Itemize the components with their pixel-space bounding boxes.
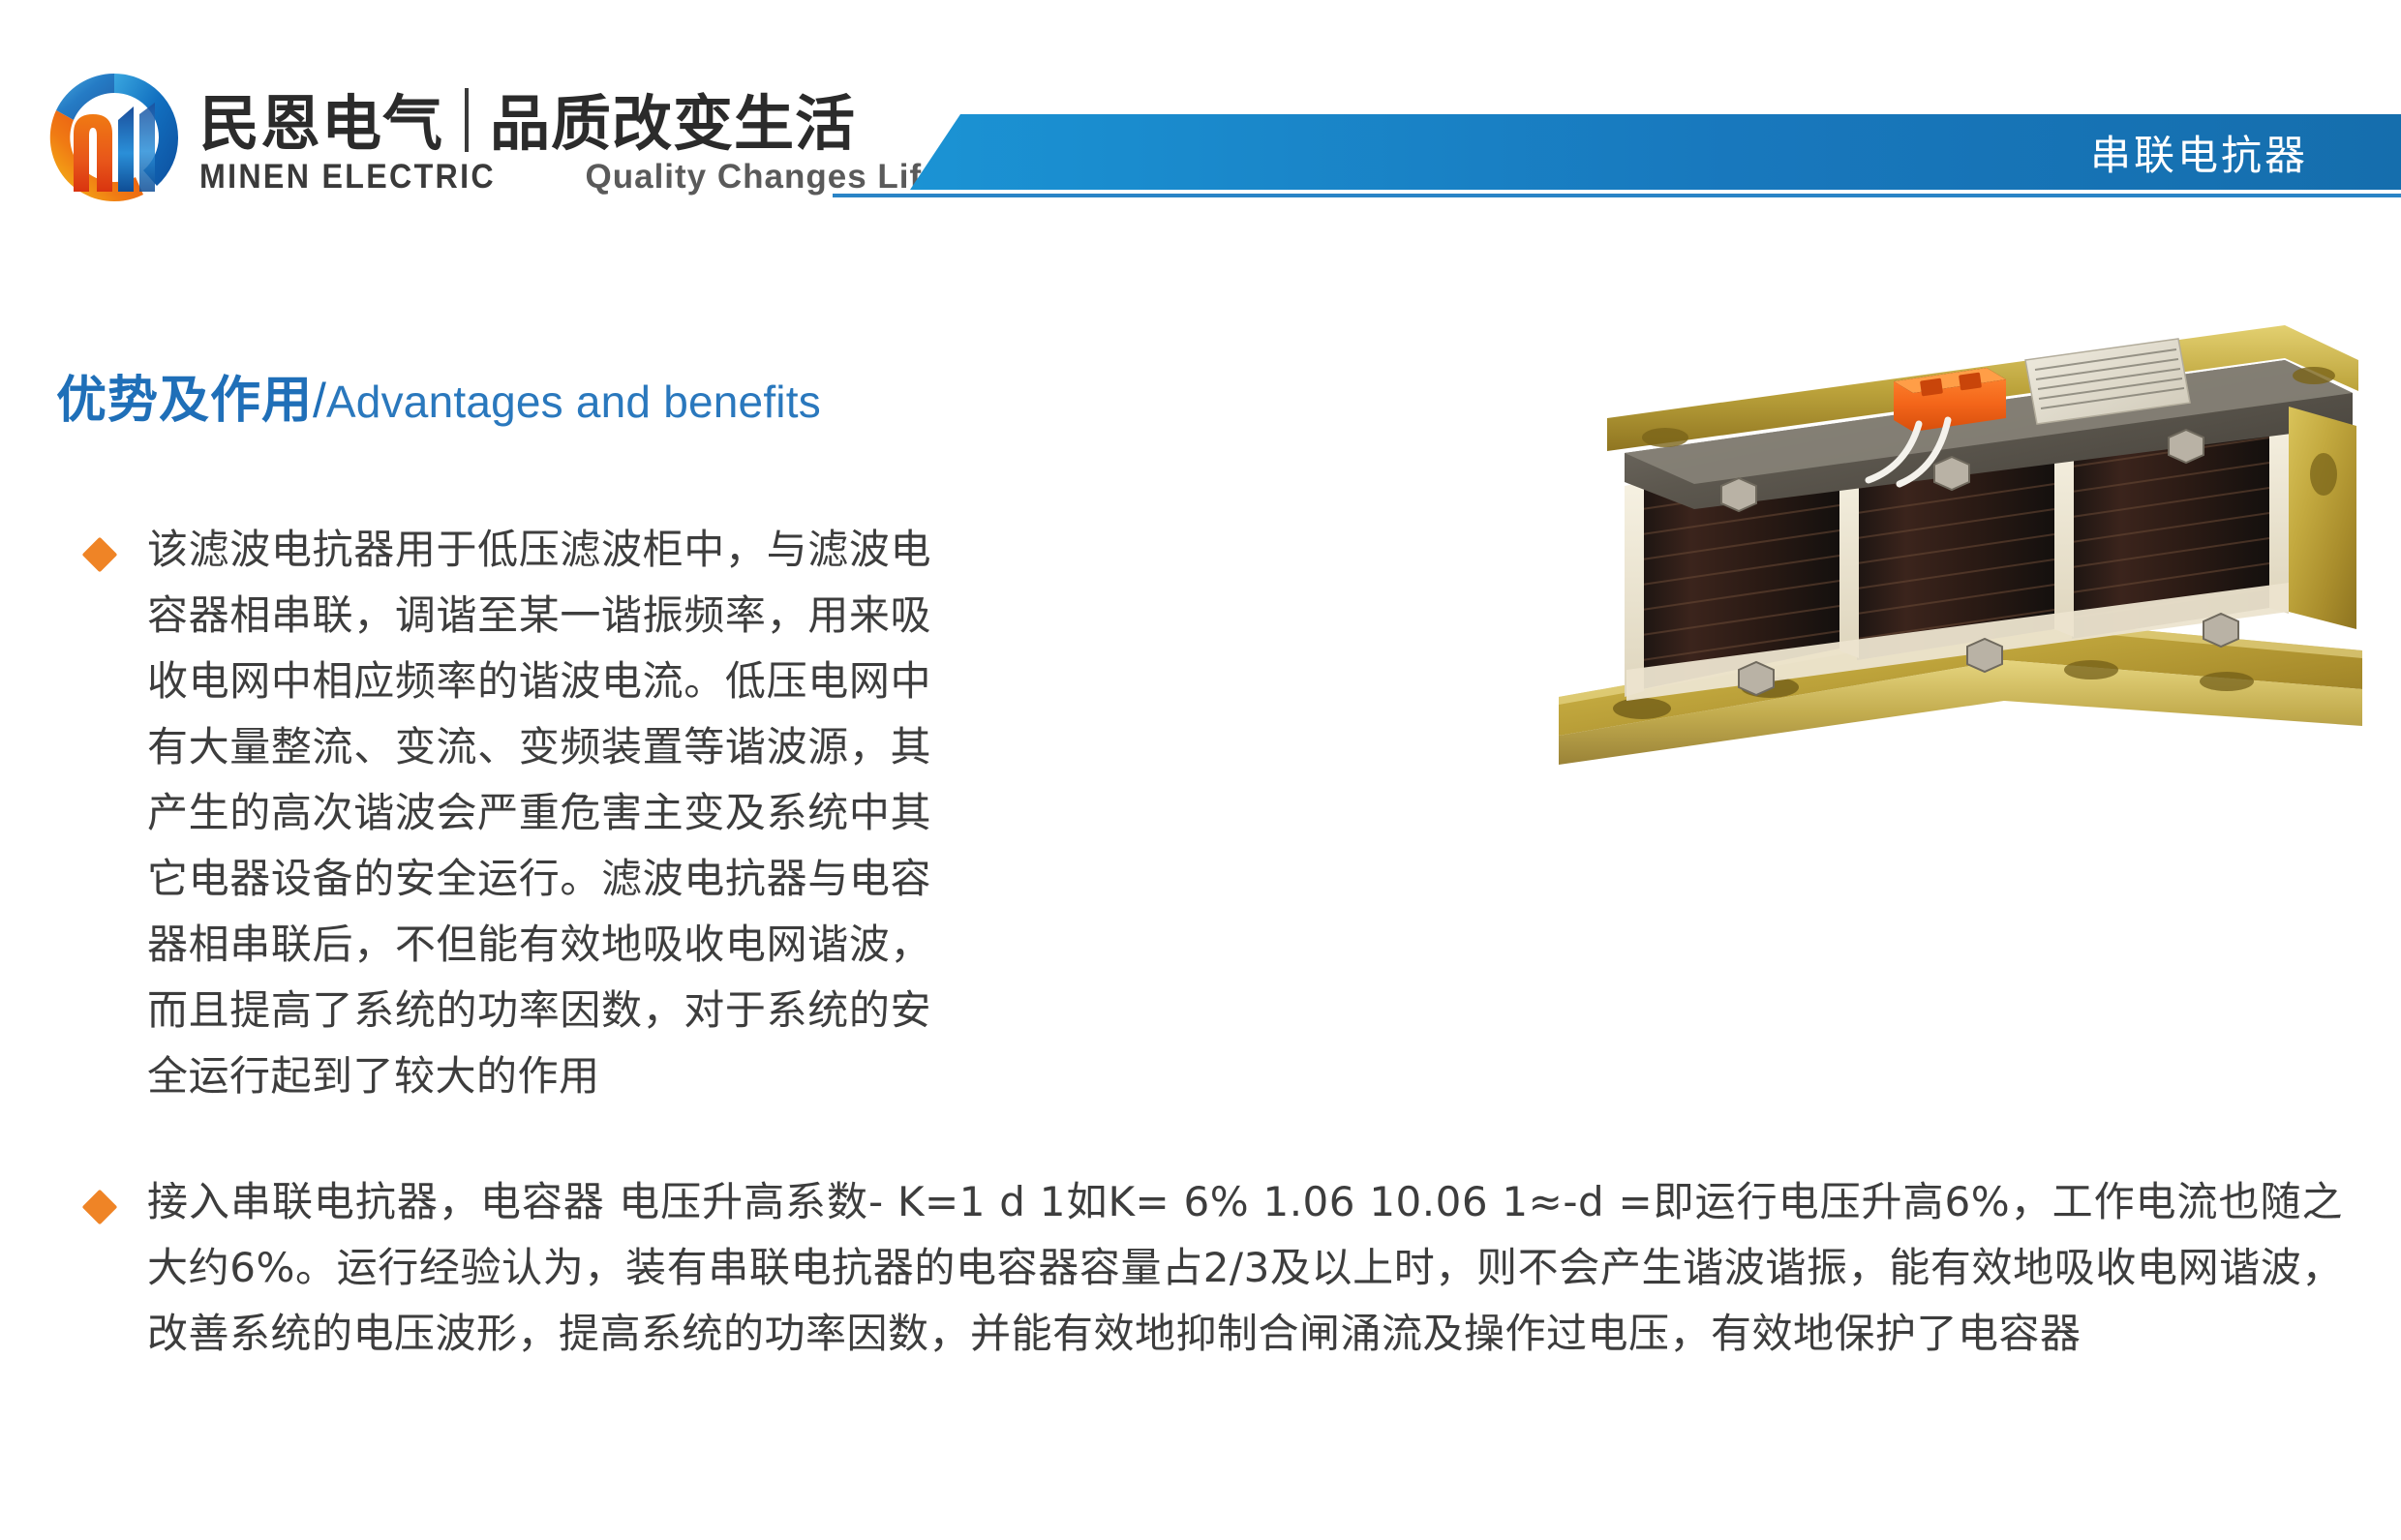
right-end-plate bbox=[2289, 407, 2356, 629]
page-title-banner: 串联电抗器 bbox=[910, 114, 2401, 190]
page-title: 串联电抗器 bbox=[2090, 123, 2401, 182]
section-heading-cn: 优势及作用 bbox=[56, 372, 313, 430]
section-heading: 优势及作用/Advantages and benefits bbox=[56, 376, 821, 426]
company-slogan-en: Quality Changes Life bbox=[586, 160, 942, 194]
company-name-en: MINEN ELECTRIC bbox=[199, 160, 496, 194]
product-photo-series-reactor bbox=[1549, 310, 2382, 813]
company-name-cn: 民恩电气 bbox=[199, 94, 443, 154]
bullet-text-1: 该滤波电抗器用于低压滤波柜中，与滤波电容器相串联，调谐至某一谐振频率，用来吸收电… bbox=[147, 517, 931, 1109]
diamond-bullet-icon bbox=[82, 537, 118, 573]
brand-logo-block: 民恩电气 品质改变生活 MINEN ELECTRIC Quality Chang… bbox=[41, 70, 942, 211]
bullet-text-2: 接入串联电抗器，电容器 电压升高系数- K=1 d 1如K= 6% 1.06 1… bbox=[147, 1169, 2343, 1367]
brand-logo-text: 民恩电气 品质改变生活 MINEN ELECTRIC Quality Chang… bbox=[199, 88, 942, 194]
logo-divider bbox=[465, 88, 469, 152]
diamond-bullet-icon bbox=[82, 1190, 118, 1225]
company-slogan-cn: 品质改变生活 bbox=[490, 94, 856, 154]
section-heading-separator: / bbox=[313, 374, 326, 428]
minen-logo-icon bbox=[41, 64, 188, 211]
section-heading-en: Advantages and benefits bbox=[326, 377, 821, 427]
page-header: 民恩电气 品质改变生活 MINEN ELECTRIC Quality Chang… bbox=[0, 0, 2401, 242]
bullet-item-1: 该滤波电抗器用于低压滤波柜中，与滤波电容器相串联，调谐至某一谐振频率，用来吸收电… bbox=[87, 517, 939, 1109]
banner-underline bbox=[833, 194, 2401, 197]
bullet-item-2: 接入串联电抗器，电容器 电压升高系数- K=1 d 1如K= 6% 1.06 1… bbox=[87, 1169, 2343, 1367]
